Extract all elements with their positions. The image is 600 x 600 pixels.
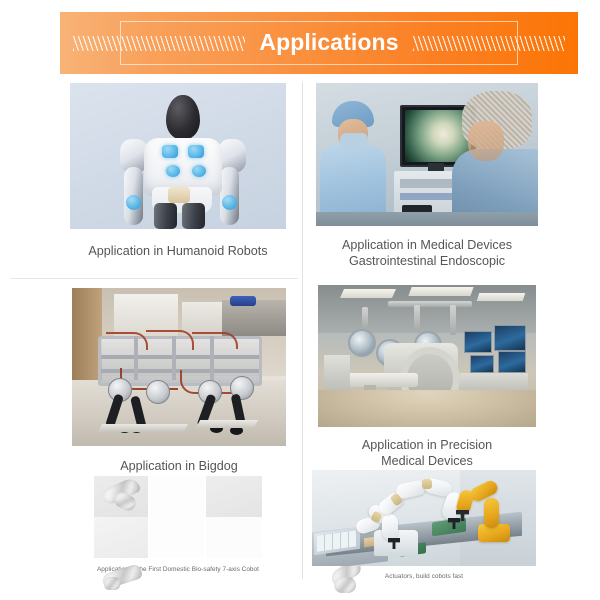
page-header-banner: Applications xyxy=(60,12,578,74)
card-caption-medical-devices-line-2: Gastrointestinal Endoscopic xyxy=(316,253,538,269)
wiring-harness-2 xyxy=(146,330,194,350)
wall-monitor-2 xyxy=(494,325,526,351)
row-divider-left-column xyxy=(10,278,298,279)
floor-plate-rear xyxy=(196,420,258,428)
card-caption-humanoid-robots: Application in Humanoid Robots xyxy=(70,243,286,259)
operating-room-floor xyxy=(318,390,536,427)
application-card-precision-medical-devices[interactable]: Application in Precision Medical Devices xyxy=(318,285,536,469)
wall-monitor-1 xyxy=(464,331,492,353)
clinician-right-face xyxy=(468,121,504,161)
cobot-joint-part-2b xyxy=(104,577,120,590)
humanoid-robot-image xyxy=(70,83,286,229)
application-card-humanoid-robots[interactable]: Application in Humanoid Robots xyxy=(70,83,286,259)
endoscopy-procedure-image xyxy=(316,83,538,226)
application-card-bio-safety-cobot[interactable]: Application in the First Domestic Bio-sa… xyxy=(94,476,262,574)
card-caption-actuators: Actuators, build cobots fast xyxy=(312,573,536,581)
card-caption-precision-medical-devices: Application in Precision Medical Devices xyxy=(318,437,536,469)
diagonal-hatch-pattern-left-icon xyxy=(73,36,245,51)
cobot-joints-image xyxy=(94,476,262,558)
ceiling-light-panel-3 xyxy=(477,293,526,301)
clinician-left xyxy=(318,101,390,226)
clinic-floor xyxy=(316,212,538,226)
ceiling-light-panel-1 xyxy=(340,289,396,298)
joint-panel-3 xyxy=(206,476,262,517)
column-divider xyxy=(302,82,303,579)
actuators-assembly-line-image xyxy=(312,470,536,566)
wiring-harness-1 xyxy=(106,332,148,350)
operating-table xyxy=(342,373,418,387)
floor-plate-front xyxy=(98,424,188,432)
quadruped-robot xyxy=(94,332,262,428)
card-caption-precision-line-1: Application in Precision xyxy=(318,437,536,453)
card-caption-bigdog: Application in Bigdog xyxy=(72,458,286,474)
robot-chest-indicator-1 xyxy=(162,145,178,158)
wiring-harness-3 xyxy=(192,332,238,349)
wall-monitor-4 xyxy=(498,351,526,373)
robot-right-elbow-joint xyxy=(222,195,237,210)
page-title: Applications xyxy=(255,29,402,58)
banner-content-row: Applications xyxy=(60,12,578,74)
joint-panel-4 xyxy=(206,517,262,558)
application-card-actuators[interactable]: Actuators, build cobots fast xyxy=(312,470,536,581)
robot-chest-indicator-2 xyxy=(188,145,204,158)
robot-chest-indicator-3 xyxy=(166,165,180,177)
robot-head xyxy=(166,95,200,139)
operating-room-image xyxy=(318,285,536,427)
applications-grid: Application in Humanoid Robots xyxy=(0,80,600,600)
joint-panel-center-arm xyxy=(150,476,204,558)
component-tray-cells xyxy=(317,530,357,552)
robot-core-module xyxy=(168,187,190,203)
industrial-robot-segment-1 xyxy=(484,498,499,528)
robot-left-leg xyxy=(154,203,177,229)
card-caption-precision-line-2: Medical Devices xyxy=(318,453,536,469)
card-caption-medical-devices-line-1: Application in Medical Devices xyxy=(316,237,538,253)
card-caption-medical-devices: Application in Medical Devices Gastroint… xyxy=(316,237,538,269)
cobot-base-column xyxy=(382,514,398,540)
robot-chest-indicator-4 xyxy=(192,165,206,177)
application-card-medical-devices[interactable]: Application in Medical Devices Gastroint… xyxy=(316,83,538,269)
ceiling-light-panel-2 xyxy=(408,287,473,296)
application-card-bigdog[interactable]: Application in Bigdog xyxy=(72,288,286,474)
robot-left-elbow-joint xyxy=(126,195,141,210)
cobot-joint-band-2 xyxy=(422,479,432,489)
ceiling-boom-arm-2 xyxy=(450,305,456,335)
ceiling-boom-rail xyxy=(388,301,472,307)
clinician-right xyxy=(446,91,538,226)
joint-panel-1 xyxy=(94,476,148,517)
lab-blue-equipment xyxy=(230,296,256,306)
bigdog-robot-image xyxy=(72,288,286,446)
wall-monitor-3 xyxy=(470,355,494,373)
leg-motor-2 xyxy=(146,380,170,404)
clinician-left-face-mask xyxy=(340,133,368,149)
chassis-rail-upper xyxy=(101,355,259,359)
robot-right-leg xyxy=(182,203,205,229)
surgical-light-1 xyxy=(348,329,376,357)
diagonal-hatch-pattern-right-icon xyxy=(413,36,565,51)
ceiling-boom-arm-1 xyxy=(414,305,420,331)
joint-panel-2 xyxy=(94,517,148,558)
ceiling-boom-arm-3 xyxy=(362,307,368,329)
